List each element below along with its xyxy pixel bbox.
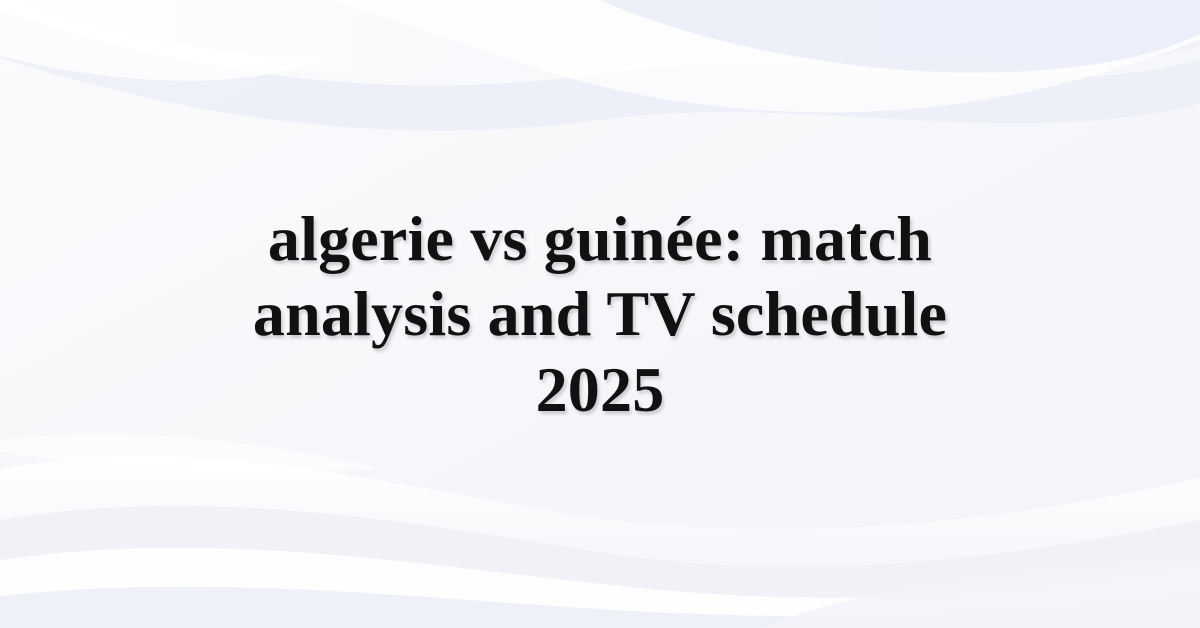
page-title: algerie vs guinée: match analysis and TV… bbox=[200, 201, 1000, 428]
title-container: algerie vs guinée: match analysis and TV… bbox=[0, 0, 1200, 628]
banner-card: algerie vs guinée: match analysis and TV… bbox=[0, 0, 1200, 628]
